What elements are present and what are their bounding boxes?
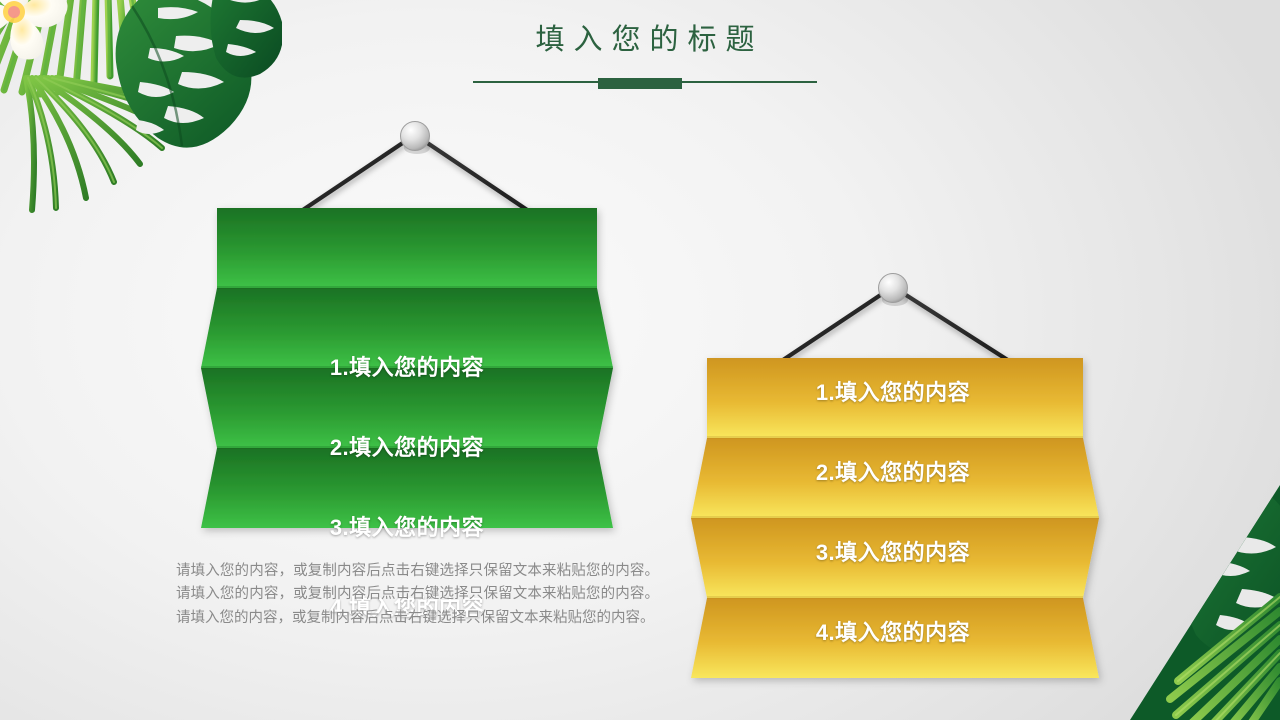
tropical-leaves-corner-icon [1130, 485, 1280, 720]
banner-gold[interactable]: 1.填入您的内容 2.填入您的内容 3.填入您的内容 4.填入您的内容 [685, 258, 1115, 678]
banner-green[interactable]: 1.填入您的内容 2.填入您的内容 3.填入您的内容 4.填入您的内容 [185, 118, 645, 538]
title-block: 填入您的标题 [400, 24, 890, 89]
body-paragraph: 请填入您的内容，或复制内容后点击右键选择只保留文本来粘贴您的内容。请填入您的内容… [176, 560, 659, 630]
slide-canvas: 填入您的标题 [0, 0, 1280, 720]
page-title: 填入您的标题 [400, 24, 890, 56]
title-underline-accent [598, 78, 682, 89]
title-underline [473, 78, 817, 89]
